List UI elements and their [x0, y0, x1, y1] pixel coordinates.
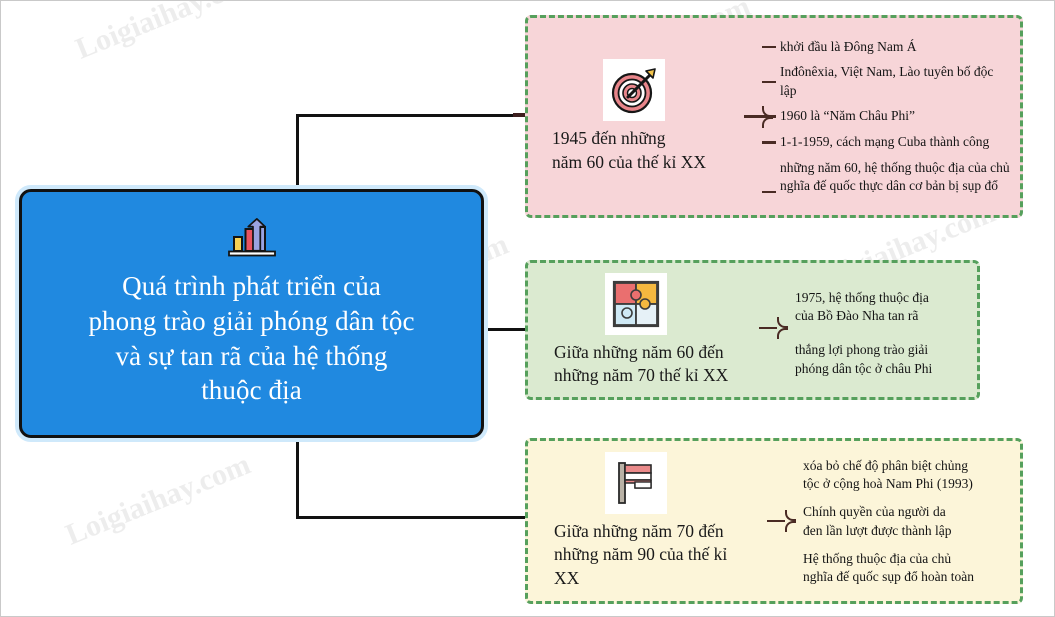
branch-2-subitems: 1975, hệ thống thuộc địa của Bồ Đào Nha …: [781, 289, 967, 367]
target-dartboard-icon: [603, 59, 665, 121]
branch-2-label: Giữa những năm 60 đến những năm 70 thế k…: [536, 341, 735, 387]
watermark-text: Loigiaihay.com: [61, 448, 255, 553]
branch-mid70s-90s[interactable]: Giữa những năm 70 đến những năm 90 của t…: [525, 438, 1023, 604]
branch-1-subitems-wrap: khởi đầu là Đông Nam Á Inđônêxia, Việt N…: [740, 18, 1020, 215]
list-item: Chính quyền của người da đen lần lượt đư…: [789, 503, 1010, 539]
branch-3-label: Giữa những năm 70 đến những năm 90 của t…: [536, 520, 735, 589]
list-item: xóa bỏ chế độ phân biệt chủng tộc ở cộng…: [789, 457, 1010, 493]
watermark-text: Loigiaihay.com: [71, 0, 265, 67]
branch-1945-1960s[interactable]: 1945 đến những năm 60 của thế kỉ XX khởi…: [525, 15, 1023, 218]
list-item: 1975, hệ thống thuộc địa của Bồ Đào Nha …: [781, 289, 967, 325]
puzzle-pieces-icon: [605, 273, 667, 335]
branch-1-label: 1945 đến những năm 60 của thế kỉ XX: [536, 127, 732, 173]
branch-2-header: Giữa những năm 60 đến những năm 70 thế k…: [528, 273, 743, 387]
connector-bottom-horizontal: [296, 516, 531, 519]
connector-top-horizontal: [296, 114, 531, 117]
central-node[interactable]: Quá trình phát triển của phong trào giải…: [19, 189, 484, 438]
list-item: thắng lợi phong trào giải phóng dân tộc …: [781, 341, 967, 377]
branch-3-header: Giữa những năm 70 đến những năm 90 của t…: [528, 452, 743, 589]
branch-3-subitems: xóa bỏ chế độ phân biệt chủng tộc ở cộng…: [789, 457, 1010, 585]
mindmap-canvas: Loigiaihay.comLoigiaihay.comLoigiaihay.c…: [0, 0, 1055, 617]
connector-top-vertical: [296, 114, 299, 192]
list-item: 1-1-1959, cách mạng Cuba thành công: [766, 129, 1010, 155]
branch-2-subitems-wrap: 1975, hệ thống thuộc địa của Bồ Đào Nha …: [743, 263, 977, 397]
branch-3-subitems-wrap: xóa bỏ chế độ phân biệt chủng tộc ở cộng…: [743, 441, 1020, 601]
list-item: Hệ thống thuộc địa của chủ nghĩa đế quốc…: [789, 550, 1010, 586]
branch-mid60s-70s[interactable]: Giữa những năm 60 đến những năm 70 thế k…: [525, 260, 980, 400]
list-item: khởi đầu là Đông Nam Á: [766, 34, 1010, 60]
branch-1-header: 1945 đến những năm 60 của thế kỉ XX: [528, 59, 740, 173]
flag-icon: [605, 452, 667, 514]
central-node-title: Quá trình phát triển của phong trào giải…: [88, 269, 414, 407]
connector-bottom-vertical: [296, 435, 299, 519]
list-item: Inđônêxia, Việt Nam, Lào tuyên bố độc lậ…: [766, 60, 1010, 104]
branch-1-subitems: khởi đầu là Đông Nam Á Inđônêxia, Việt N…: [766, 32, 1010, 201]
list-item: những năm 60, hệ thống thuộc địa của chủ…: [766, 155, 1010, 199]
bar-chart-growth-icon: [224, 215, 280, 259]
list-item: 1960 là “Năm Châu Phi”: [766, 104, 1010, 130]
